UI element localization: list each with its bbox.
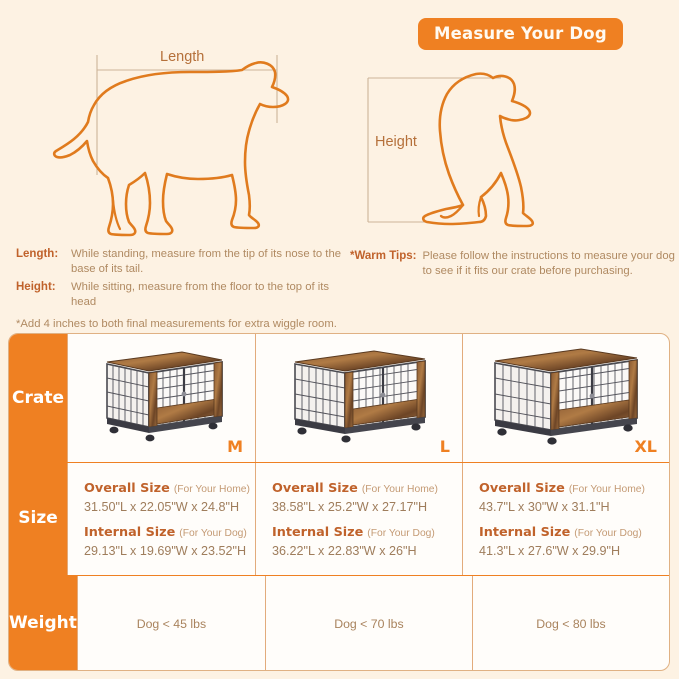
table-row-crate: Crate: [9, 334, 669, 462]
warm-tips-block: *Warm Tips: Please follow the instructio…: [350, 249, 675, 282]
row-header-size: Size: [9, 462, 67, 575]
crate-spec-table: Crate: [8, 333, 670, 671]
sitting-dog-outline: [423, 74, 533, 226]
dog-body-outline: [54, 62, 288, 235]
overall-size-label-l: Overall Size: [272, 481, 358, 496]
weight-value-l: Dog < 70 lbs: [334, 617, 403, 631]
weight-cell-xl: Dog < 80 lbs: [472, 576, 669, 671]
warm-tips-text: Please follow the instructions to measur…: [422, 249, 675, 279]
note-height-key: Height:: [16, 280, 71, 295]
size-cell-l: Overall Size(For Your Home) 38.58"L x 25…: [255, 463, 462, 575]
banner-title: Measure Your Dog: [434, 24, 607, 43]
note-height: Height: While sitting, measure from the …: [16, 280, 346, 310]
measurement-instructions: Length: While standing, measure from the…: [16, 247, 346, 332]
measure-your-dog-section: Measure Your Dog Length: [0, 0, 679, 332]
internal-size-paren-m: (For Your Dog): [179, 528, 247, 539]
note-length-text: While standing, measure from the tip of …: [71, 247, 346, 277]
row-header-weight: Weight: [9, 575, 77, 671]
note-warm-tips: *Warm Tips: Please follow the instructio…: [350, 249, 675, 279]
size-tag-m: M: [227, 437, 243, 456]
standing-dog-svg: [30, 45, 330, 240]
overall-size-paren-m: (For Your Home): [174, 484, 250, 495]
internal-dims-xl: 41.3"L x 27.6"W x 29.9"H: [479, 544, 620, 558]
overall-size-paren-xl: (For Your Home): [569, 484, 645, 495]
internal-size-label-l: Internal Size: [272, 525, 363, 540]
crate-image-m: [87, 342, 237, 446]
internal-dims-m: 29.13"L x 19.69"W x 23.52"H: [84, 544, 246, 558]
crate-cell-xl: XL: [462, 334, 669, 462]
banner-measure-your-dog: Measure Your Dog: [418, 18, 623, 50]
dog-rear-leg-detail: [113, 200, 120, 229]
row-header-crate: Crate: [9, 334, 67, 462]
overall-dims-xl: 43.7"L x 30"W x 31.1"H: [479, 500, 610, 514]
size-tag-xl: XL: [634, 437, 657, 456]
note-length: Length: While standing, measure from the…: [16, 247, 346, 277]
weight-value-m: Dog < 45 lbs: [137, 617, 206, 631]
note-length-key: Length:: [16, 247, 71, 262]
length-dimension-label: Length: [160, 49, 204, 65]
sitting-dog-front-paw: [479, 197, 481, 216]
crate-cell-l: L: [255, 334, 462, 462]
internal-size-paren-l: (For Your Dog): [367, 528, 435, 539]
note-height-text: While sitting, measure from the floor to…: [71, 280, 346, 310]
weight-value-xl: Dog < 80 lbs: [536, 617, 605, 631]
crate-image-xl: [479, 342, 654, 450]
crate-cell-m: M: [67, 334, 255, 462]
overall-size-paren-l: (For Your Home): [362, 484, 438, 495]
internal-size-label-xl: Internal Size: [479, 525, 570, 540]
standing-dog-illustration: [30, 45, 330, 240]
warm-tips-key: *Warm Tips:: [350, 249, 422, 264]
height-dimension-label: Height: [375, 134, 417, 150]
crate-image-l: [277, 342, 442, 448]
overall-size-label-xl: Overall Size: [479, 481, 565, 496]
internal-dims-l: 36.22"L x 22.83"W x 26"H: [272, 544, 417, 558]
table-row-size: Size Overall Size(For Your Home) 31.50"L…: [9, 462, 669, 575]
overall-size-label-m: Overall Size: [84, 481, 170, 496]
overall-dims-m: 31.50"L x 22.05"W x 24.8"H: [84, 500, 239, 514]
internal-size-paren-xl: (For Your Dog): [574, 528, 642, 539]
weight-cell-m: Dog < 45 lbs: [77, 576, 265, 671]
size-cell-m: Overall Size(For Your Home) 31.50"L x 22…: [67, 463, 255, 575]
wiggle-room-footnote: *Add 4 inches to both final measurements…: [16, 317, 346, 332]
weight-cell-l: Dog < 70 lbs: [265, 576, 472, 671]
size-tag-l: L: [440, 437, 450, 456]
size-cell-xl: Overall Size(For Your Home) 43.7"L x 30"…: [462, 463, 669, 575]
table-row-weight: Weight Dog < 45 lbs Dog < 70 lbs Dog < 8…: [9, 575, 669, 671]
internal-size-label-m: Internal Size: [84, 525, 175, 540]
overall-dims-l: 38.58"L x 25.2"W x 27.17"H: [272, 500, 427, 514]
